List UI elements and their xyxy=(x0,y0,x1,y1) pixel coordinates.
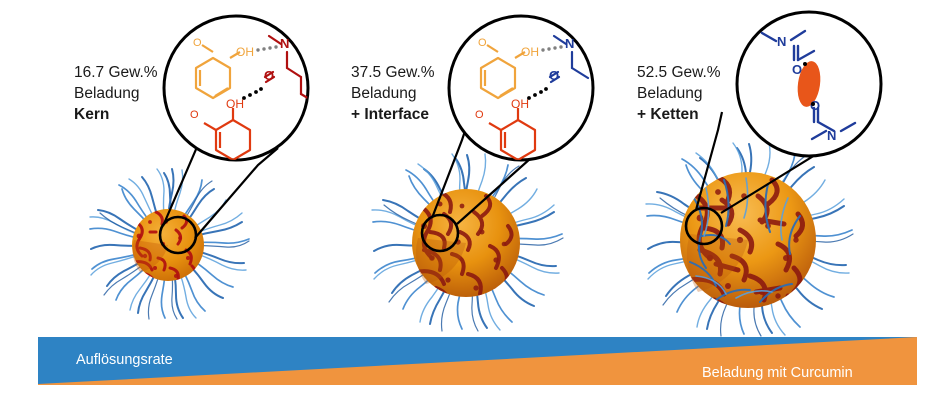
atom-label-OH-lower: OH xyxy=(511,97,529,111)
panel-1-loading-percent: 16.7 Gew.% xyxy=(74,62,158,83)
panel-1-mode-label: Kern xyxy=(74,104,158,125)
figure-canvas: O OH O OH xyxy=(0,0,935,401)
panel-2-mode-label: + Interface xyxy=(351,104,435,125)
panel-3-loading-label: Beladung xyxy=(637,83,721,104)
panel-label-kern: 16.7 Gew.% Beladung Kern xyxy=(74,62,158,125)
banner-curcumin-loading-label: Beladung mit Curcumin xyxy=(702,365,853,381)
atom-label-O-upper-left: O xyxy=(478,37,487,49)
atom-label-O-carbonyl: O xyxy=(264,68,274,83)
panel-2-loading-label: Beladung xyxy=(351,83,435,104)
atom-label-N: N xyxy=(565,36,574,51)
panel-label-interface: 37.5 Gew.% Beladung + Interface xyxy=(351,62,435,125)
panel-ketten-graphics: N O O N xyxy=(646,12,881,336)
atom-label-OH-upper: OH xyxy=(521,45,539,59)
atom-label-O-lower-left: O xyxy=(475,109,484,121)
atom-label-OH-lower: OH xyxy=(226,97,244,111)
atom-label-N: N xyxy=(280,36,289,51)
atom-label-O-carbonyl: O xyxy=(549,68,559,83)
atom-label-O-lower-left: O xyxy=(190,109,199,121)
panel-2-loading-percent: 37.5 Gew.% xyxy=(351,62,435,83)
atom-label-O-lower: O xyxy=(810,98,820,113)
inset-molecular-core: O OH O OH xyxy=(164,16,316,160)
banner-dissolution-rate-label: Auflösungsrate xyxy=(76,352,173,368)
panel-label-ketten: 52.5 Gew.% Beladung + Ketten xyxy=(637,62,721,125)
panel-3-mode-label: + Ketten xyxy=(637,104,721,125)
atom-label-N-upper: N xyxy=(777,34,786,49)
inset-molecular-interface: O OH O OH xyxy=(449,16,593,160)
inset-molecular-chains: N O O N xyxy=(737,12,881,156)
core-2 xyxy=(412,189,520,310)
figure-graphics: O OH O OH xyxy=(0,0,935,401)
atom-label-OH-upper: OH xyxy=(236,45,254,59)
panel-3-loading-percent: 52.5 Gew.% xyxy=(637,62,721,83)
panel-1-loading-label: Beladung xyxy=(74,83,158,104)
atom-label-O-upper-left: O xyxy=(193,37,202,49)
atom-label-N-lower: N xyxy=(827,128,836,143)
